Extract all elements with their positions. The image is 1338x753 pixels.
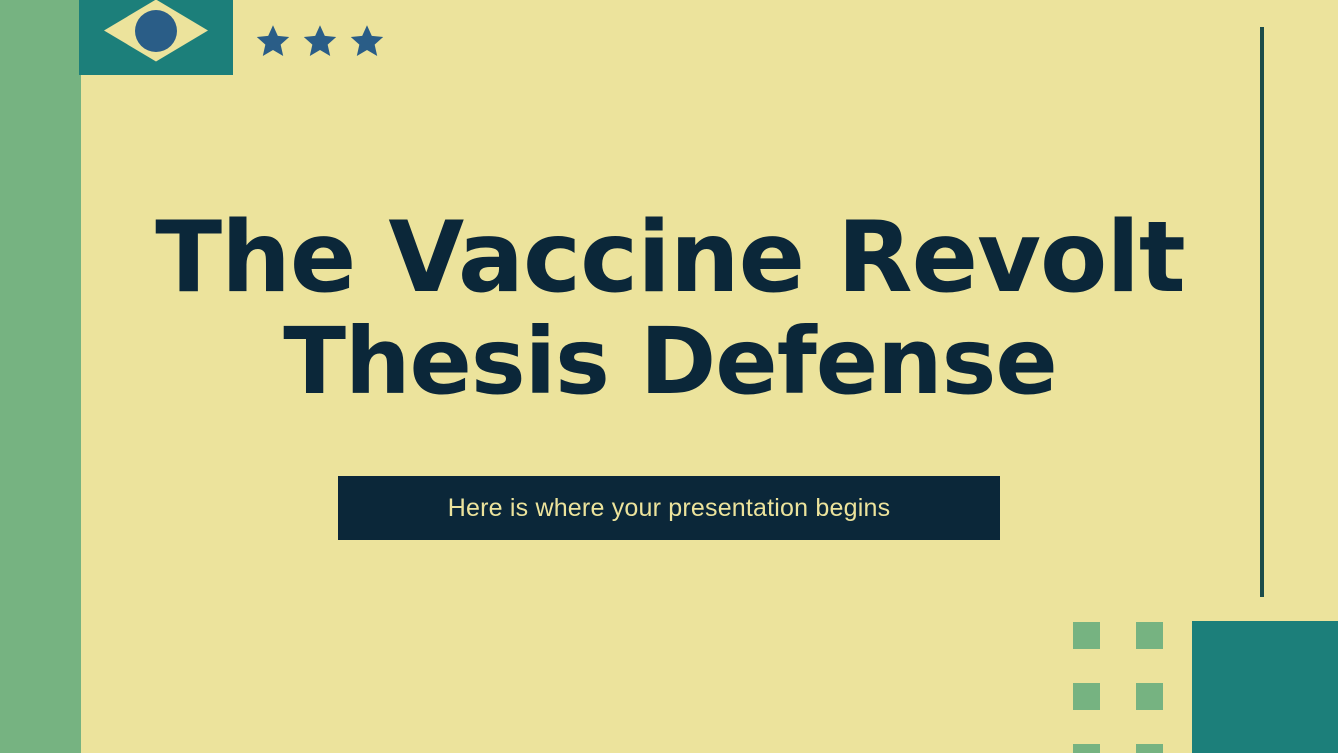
title-line-2: Thesis Defense [120,312,1220,411]
dot-square [1136,683,1163,710]
slide-title: The Vaccine Revolt Thesis Defense [120,206,1220,411]
subtitle-text: Here is where your presentation begins [448,494,891,523]
dot-square [1136,744,1163,753]
brazil-flag-emblem-icon [79,0,233,75]
dot-grid-decoration [1073,622,1163,753]
dot-square [1073,683,1100,710]
dot-square [1136,622,1163,649]
flag-circle-shape [135,10,177,52]
star-icon-3 [349,23,385,59]
star-icon-1 [255,23,291,59]
star-row [255,23,385,59]
star-icon-2 [302,23,338,59]
title-line-1: The Vaccine Revolt [120,206,1220,312]
teal-corner-block [1192,621,1338,753]
presentation-slide: The Vaccine Revolt Thesis Defense Here i… [0,0,1338,753]
left-green-bar [0,0,81,753]
subtitle-banner: Here is where your presentation begins [338,476,1000,540]
vertical-accent-line [1260,27,1264,597]
dot-square [1073,622,1100,649]
dot-square [1073,744,1100,753]
